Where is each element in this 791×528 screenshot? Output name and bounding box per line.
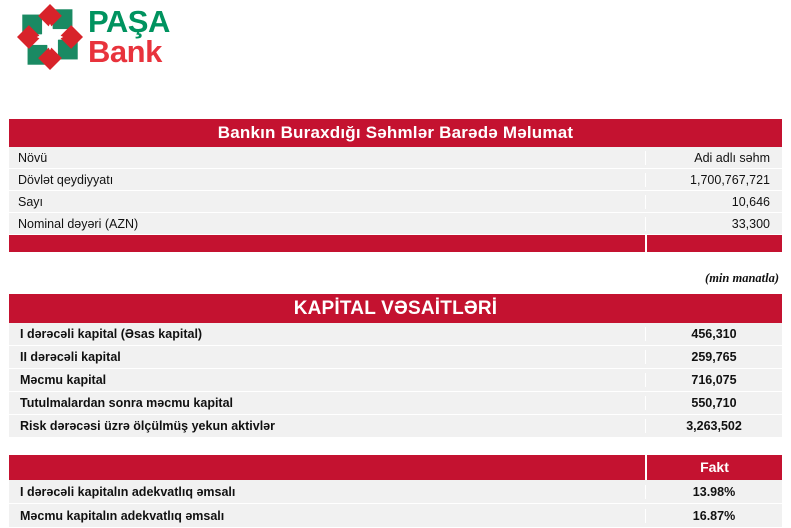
shares-information-table: Bankın Buraxdığı Səhmlər Barədə Məlumat … <box>9 119 782 252</box>
table-row: Məcmu kapital 716,075 <box>9 369 782 392</box>
row-value: 16.87% <box>645 509 782 523</box>
row-label: I dərəcəli kapital (Əsas kapital) <box>9 327 645 341</box>
brand-name-bank: Bank <box>88 37 170 67</box>
table-row: Sayı 10,646 <box>9 191 782 213</box>
table-row: Nominal dəyəri (AZN) 33,300 <box>9 213 782 235</box>
row-label: Dövlət qeydiyyatı <box>9 173 645 187</box>
table-row: I dərəcəli kapitalın adekvatlıq əmsalı 1… <box>9 480 782 504</box>
row-value: 550,710 <box>645 396 782 410</box>
capital-table-title: KAPİTAL VƏSAİTLƏRİ <box>9 294 782 323</box>
adequacy-table-header: Fakt <box>9 455 782 480</box>
adequacy-header-fakt: Fakt <box>645 455 782 480</box>
table-row: Növü Adi adlı səhm <box>9 147 782 169</box>
footer-bar-left <box>9 235 645 252</box>
row-label: Nominal dəyəri (AZN) <box>9 217 645 231</box>
row-value: 33,300 <box>645 217 782 231</box>
table-row: Dövlət qeydiyyatı 1,700,767,721 <box>9 169 782 191</box>
shares-table-title: Bankın Buraxdığı Səhmlər Barədə Məlumat <box>9 119 782 147</box>
row-value: 456,310 <box>645 327 782 341</box>
row-value: Adi adlı səhm <box>645 151 782 165</box>
brand-wordmark: PAŞA Bank <box>88 7 170 67</box>
row-label: II dərəcəli kapital <box>9 350 645 364</box>
brand-logo: PAŞA Bank <box>16 4 170 70</box>
table-row: Tutulmalardan sonra məcmu kapital 550,71… <box>9 392 782 415</box>
row-value: 259,765 <box>645 350 782 364</box>
adequacy-header-left <box>9 455 645 480</box>
brand-name-pasa: PAŞA <box>88 7 170 37</box>
row-label: Məcmu kapital <box>9 373 645 387</box>
row-label: Risk dərəcəsi üzrə ölçülmüş yekun aktivl… <box>9 419 645 433</box>
row-label: Məcmu kapitalın adekvatlıq əmsalı <box>9 509 645 523</box>
capital-adequacy-table: Fakt I dərəcəli kapitalın adekvatlıq əms… <box>9 455 782 528</box>
row-value: 10,646 <box>645 195 782 209</box>
units-note: (min manatla) <box>705 271 779 286</box>
row-label: I dərəcəli kapitalın adekvatlıq əmsalı <box>9 485 645 499</box>
pasha-bank-pinwheel-logo-icon <box>16 4 84 70</box>
table-row: Risk dərəcəsi üzrə ölçülmüş yekun aktivl… <box>9 415 782 438</box>
table-row: II dərəcəli kapital 259,765 <box>9 346 782 369</box>
footer-bar-right <box>645 235 782 252</box>
table-row: I dərəcəli kapital (Əsas kapital) 456,31… <box>9 323 782 346</box>
row-value: 3,263,502 <box>645 419 782 433</box>
shares-table-footer-bar <box>9 235 782 252</box>
row-label: Sayı <box>9 195 645 209</box>
capital-funds-table: KAPİTAL VƏSAİTLƏRİ I dərəcəli kapital (Ə… <box>9 294 782 438</box>
row-label: Növü <box>9 151 645 165</box>
row-value: 13.98% <box>645 485 782 499</box>
row-value: 1,700,767,721 <box>645 173 782 187</box>
row-value: 716,075 <box>645 373 782 387</box>
row-label: Tutulmalardan sonra məcmu kapital <box>9 396 645 410</box>
table-row: Məcmu kapitalın adekvatlıq əmsalı 16.87% <box>9 504 782 528</box>
